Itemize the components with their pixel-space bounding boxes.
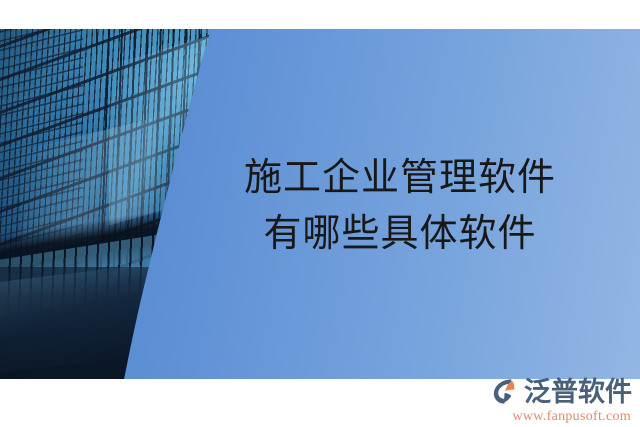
headline-line-2: 有哪些具体软件 [180,206,620,262]
brand-logo[interactable]: 泛普软件 www.fanpusoft.com [490,376,632,425]
top-white-band [0,0,640,29]
fanpu-c-arc-logo-icon [490,376,521,407]
headline-line-1: 施工企业管理软件 [180,150,620,206]
brand-logo-row: 泛普软件 [490,376,632,407]
promotional-banner: 施工企业管理软件 有哪些具体软件 泛普软件 www.fanpusoft.com [0,0,640,427]
brand-url[interactable]: www.fanpusoft.com [512,408,631,425]
page-title: 施工企业管理软件 有哪些具体软件 [180,150,620,262]
brand-name: 泛普软件 [524,377,632,407]
